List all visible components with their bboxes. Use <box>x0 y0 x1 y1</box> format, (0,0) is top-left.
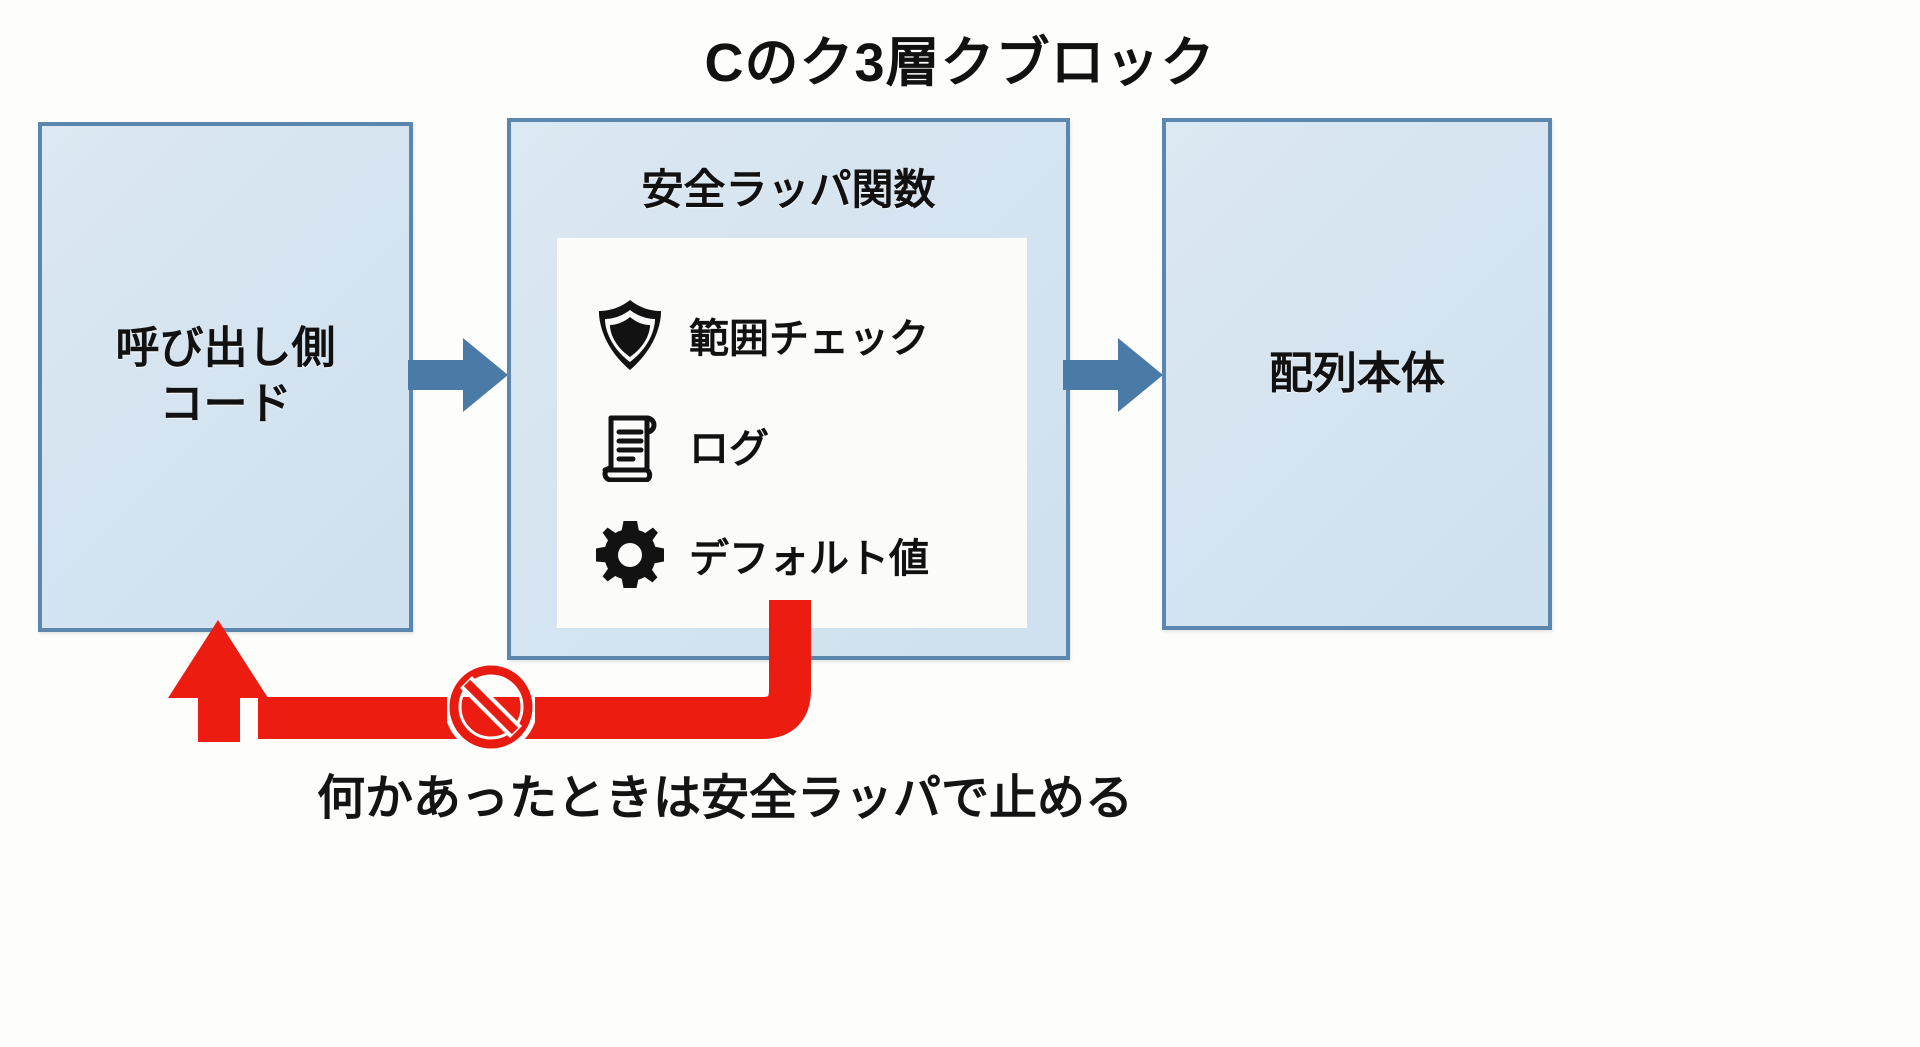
feature-label-log: ログ <box>689 416 769 474</box>
safety-wrapper-heading: 安全ラッパ関数 <box>511 156 1066 217</box>
shield-icon <box>593 298 667 372</box>
gear-icon <box>593 518 667 592</box>
diagram-canvas: Cのク3層クブロック 呼び出し側 コード 安全ラッパ関数 範囲チェック <box>0 0 1920 1047</box>
arrow-caller-to-wrapper-icon <box>408 338 508 417</box>
feature-row-range-check: 範囲チェック <box>567 298 1027 372</box>
scroll-log-icon <box>593 408 667 482</box>
feature-label-default-value: デフォルト値 <box>689 526 929 584</box>
caller-code-box: 呼び出し側 コード <box>38 122 413 632</box>
feature-row-default-value: デフォルト値 <box>567 518 1027 592</box>
safety-wrapper-box: 安全ラッパ関数 範囲チェック <box>507 118 1070 660</box>
feature-label-range-check: 範囲チェック <box>689 306 929 364</box>
feature-row-log: ログ <box>567 408 1027 482</box>
caller-code-label: 呼び出し側 コード <box>42 321 409 434</box>
array-body-label: 配列本体 <box>1166 346 1548 402</box>
arrow-wrapper-to-array-icon <box>1063 338 1163 417</box>
array-body-box: 配列本体 <box>1162 118 1552 630</box>
wrapper-feature-list: 範囲チェック <box>557 238 1027 628</box>
prohibition-icon <box>447 663 535 751</box>
caption-text: 何かあったときは安全ラッパで止める <box>0 758 1450 828</box>
page-title: Cのク3層クブロック <box>0 18 1920 97</box>
